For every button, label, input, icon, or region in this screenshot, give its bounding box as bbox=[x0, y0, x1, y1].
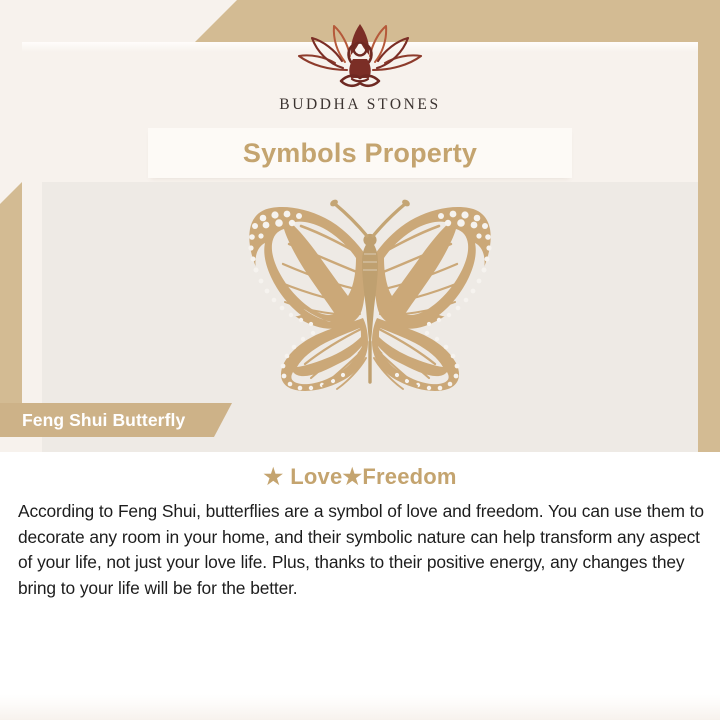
category-ribbon: Feng Shui Butterfly bbox=[0, 403, 232, 437]
keyword-love: Love bbox=[290, 464, 342, 489]
page-title: Symbols Property bbox=[243, 138, 477, 169]
brand-logo: BUDDHA STONES bbox=[0, 18, 720, 128]
lotus-meditating-figure-icon bbox=[285, 18, 435, 92]
page-canvas: BUDDHA STONES Symbols Property bbox=[0, 0, 720, 720]
category-ribbon-label: Feng Shui Butterfly bbox=[0, 410, 185, 431]
star-icon-left: ★ bbox=[263, 464, 283, 489]
illustration-wrap bbox=[42, 196, 698, 392]
star-icon-mid: ★ bbox=[342, 464, 362, 489]
brand-name: BUDDHA STONES bbox=[279, 96, 440, 114]
keyword-freedom: Freedom bbox=[362, 464, 456, 489]
panel-bottom-fade bbox=[0, 694, 720, 720]
butterfly-icon bbox=[205, 196, 535, 392]
description-panel: ★Love★Freedom According to Feng Shui, bu… bbox=[0, 452, 720, 720]
description-paragraph: According to Feng Shui, butterflies are … bbox=[0, 490, 720, 602]
symbol-keywords-heading: ★Love★Freedom bbox=[0, 452, 720, 490]
section-banner: Symbols Property bbox=[148, 128, 572, 178]
